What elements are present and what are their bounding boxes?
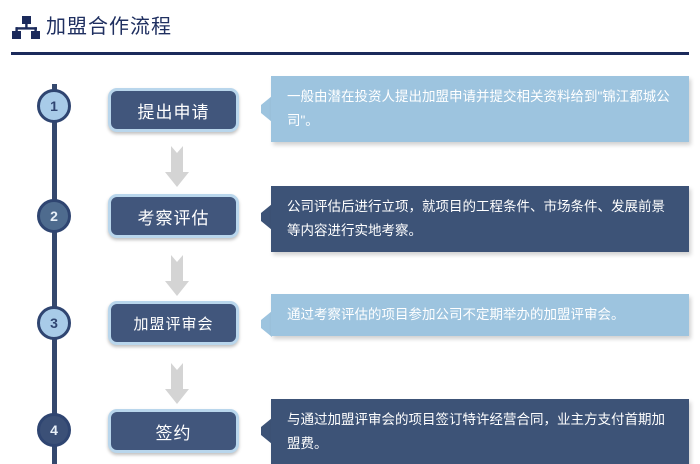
step-box-2[interactable]: 考察评估: [108, 194, 239, 238]
header-divider: [11, 52, 689, 55]
timeline-node-3[interactable]: 3: [37, 306, 71, 340]
flow-arrow-3-to-4: [162, 363, 192, 405]
step-description-3: 通过考察评估的项目参加公司不定期举办的加盟评审会。: [271, 294, 689, 336]
step-box-4-label: 签约: [156, 419, 192, 444]
flow-arrow-1-to-2: [162, 146, 192, 188]
step-description-4: 与通过加盟评审会的项目签订特许经营合同，业主方支付首期加盟费。: [271, 399, 689, 464]
step-box-3-label: 加盟评审会: [133, 313, 213, 334]
timeline-node-4-number: 4: [50, 422, 58, 438]
step-box-2-label: 考察评估: [138, 204, 210, 229]
flowchart-page: 加盟合作流程 1 提出申请 一般由潜在投资人提出加盟申请并提交相关资料给到"锦江…: [0, 0, 700, 464]
page-title: 加盟合作流程: [46, 13, 172, 41]
step-description-3-text: 通过考察评估的项目参加公司不定期举办的加盟评审会。: [287, 307, 625, 322]
timeline-node-2-number: 2: [50, 208, 58, 224]
timeline-node-1[interactable]: 1: [37, 89, 71, 123]
timeline-spine: [52, 84, 57, 464]
org-chart-icon: [11, 16, 41, 40]
step-description-1: 一般由潜在投资人提出加盟申请并提交相关资料给到"锦江都城公司"。: [271, 76, 689, 142]
step-description-1-text: 一般由潜在投资人提出加盟申请并提交相关资料给到"锦江都城公司"。: [287, 89, 670, 128]
timeline-node-1-number: 1: [50, 98, 58, 114]
step-box-4[interactable]: 签约: [108, 409, 239, 453]
step-box-1[interactable]: 提出申请: [108, 88, 239, 132]
step-description-2-text: 公司评估后进行立项，就项目的工程条件、市场条件、发展前景等内容进行实地考察。: [287, 199, 665, 238]
flow-arrow-2-to-3: [162, 255, 192, 297]
step-box-3[interactable]: 加盟评审会: [108, 301, 239, 345]
timeline-node-2[interactable]: 2: [37, 199, 71, 233]
step-box-1-label: 提出申请: [138, 98, 210, 123]
timeline-node-3-number: 3: [50, 315, 58, 331]
timeline-node-4[interactable]: 4: [37, 413, 71, 447]
step-description-4-text: 与通过加盟评审会的项目签订特许经营合同，业主方支付首期加盟费。: [287, 412, 665, 451]
page-header: 加盟合作流程: [0, 0, 700, 54]
step-description-2: 公司评估后进行立项，就项目的工程条件、市场条件、发展前景等内容进行实地考察。: [271, 186, 689, 252]
